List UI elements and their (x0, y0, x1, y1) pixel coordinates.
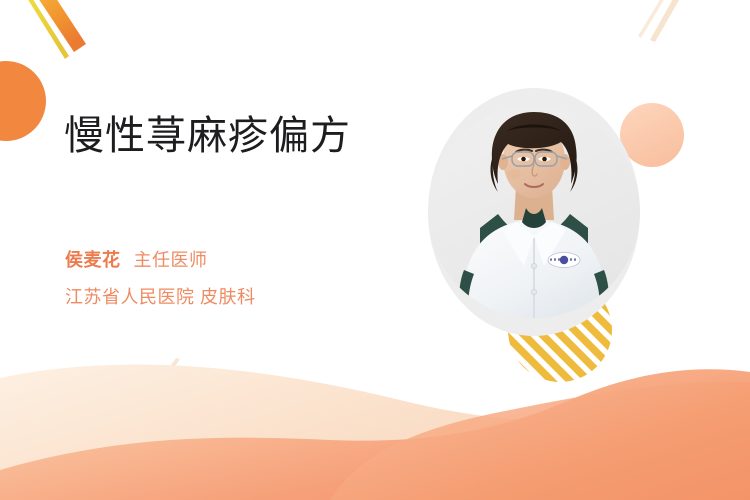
page-title: 慢性荨麻疹偏方 (64, 114, 351, 159)
decor-wave-salmon (0, 369, 750, 500)
hospital-badge-icon (548, 253, 580, 268)
decor-stripe-lower-left (146, 358, 180, 403)
portrait-backdrop (428, 88, 640, 336)
doctor-name: 侯麦花 (65, 250, 121, 270)
slide-canvas: 慢性荨麻疹偏方 侯麦花主任医师 江苏省人民医院 皮肤科 (0, 0, 750, 500)
doctor-affiliation: 江苏省人民医院 皮肤科 (65, 286, 256, 309)
doctor-name-and-title: 侯麦花主任医师 (65, 249, 208, 272)
doctor-portrait (428, 88, 640, 336)
decor-wave-cream (0, 365, 750, 500)
decor-stripes-top-right (638, 0, 686, 42)
decor-wave-salmon-deep (330, 382, 750, 500)
decor-orange-circle (0, 61, 46, 141)
decor-stripes-top-left (22, 0, 86, 59)
doctor-professional-title: 主任医师 (134, 250, 208, 270)
